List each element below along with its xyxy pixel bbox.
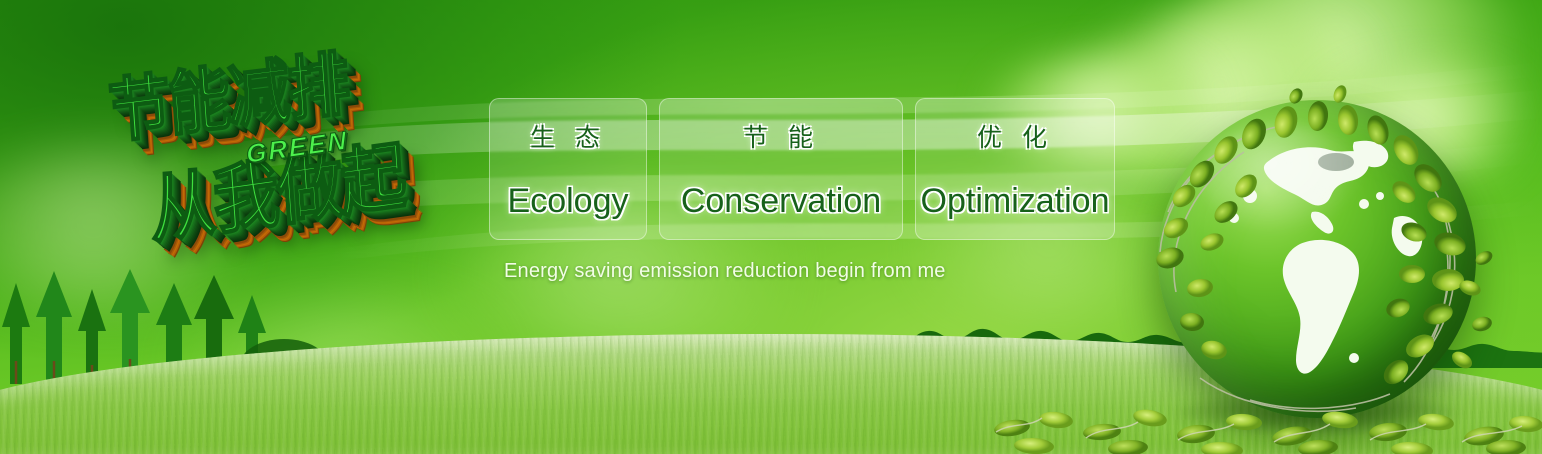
globe-sphere <box>1158 100 1476 418</box>
feature-card-list: 生 态 Ecology 节 能 Conservation 优 化 Optimiz… <box>489 98 1115 240</box>
earth-globe <box>1158 100 1476 418</box>
feature-card-title-cn: 节 能 <box>743 118 819 154</box>
headline-logo: 节能减排 GREEN 从我做起 <box>88 20 503 277</box>
feature-card-conservation[interactable]: 节 能 Conservation <box>659 98 903 240</box>
feature-card-title-en: Optimization <box>921 182 1110 221</box>
feature-card-title-en: Conservation <box>681 182 881 221</box>
feature-card-title-cn: 生 态 <box>530 118 606 154</box>
feature-card-optimization[interactable]: 优 化 Optimization <box>915 98 1115 240</box>
conifer-trees-icon <box>0 269 354 384</box>
globe-highlight <box>1203 125 1368 233</box>
eco-banner: 节能减排 GREEN 从我做起 生 态 Ecology 节 能 Conserva… <box>0 0 1542 454</box>
cloud-icon <box>150 300 570 430</box>
feature-card-title-cn: 优 化 <box>977 118 1053 154</box>
feature-card-ecology[interactable]: 生 态 Ecology <box>489 98 647 240</box>
banner-tagline: Energy saving emission reduction begin f… <box>504 260 946 283</box>
treeline-icon <box>410 322 880 368</box>
feature-card-title-en: Ecology <box>508 182 629 221</box>
